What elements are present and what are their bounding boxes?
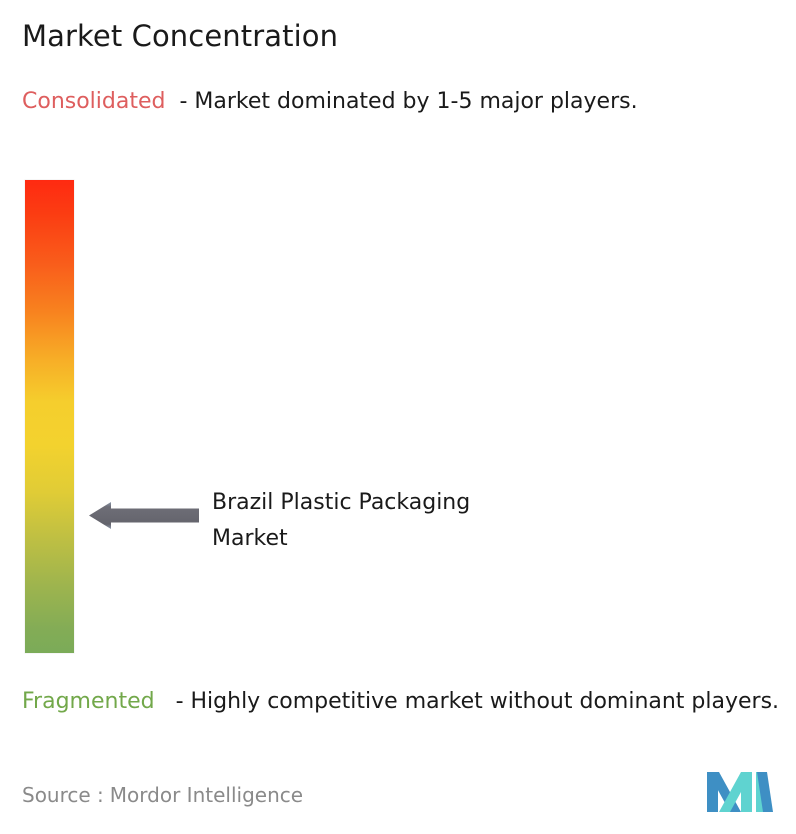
- legend-fragmented-description: - Highly competitive market without domi…: [176, 689, 779, 714]
- mordor-intelligence-logo: [707, 766, 773, 818]
- market-concentration-infographic: Market Concentration Consolidated - Mark…: [0, 0, 796, 834]
- market-position-label: Brazil Plastic Packaging Market: [212, 485, 612, 557]
- legend-fragmented-keyword: Fragmented: [22, 689, 155, 714]
- mi-monogram-icon: [707, 766, 773, 818]
- legend-consolidated-description: - Market dominated by 1-5 major players.: [179, 89, 637, 114]
- concentration-gradient-bar: [25, 180, 74, 653]
- market-position-label-line2: Market: [212, 521, 612, 557]
- legend-fragmented: Fragmented - Highly competitive market w…: [22, 686, 788, 717]
- page-title: Market Concentration: [22, 18, 338, 54]
- legend-consolidated-keyword: Consolidated: [22, 89, 165, 114]
- source-value: Mordor Intelligence: [110, 783, 303, 807]
- left-arrow-icon: [89, 499, 199, 532]
- market-position-label-line1: Brazil Plastic Packaging: [212, 485, 612, 521]
- market-position-arrow: [89, 499, 199, 532]
- source-line: Source :Mordor Intelligence: [22, 782, 303, 808]
- legend-consolidated: Consolidated - Market dominated by 1-5 m…: [22, 86, 772, 117]
- source-label: Source :: [22, 783, 104, 807]
